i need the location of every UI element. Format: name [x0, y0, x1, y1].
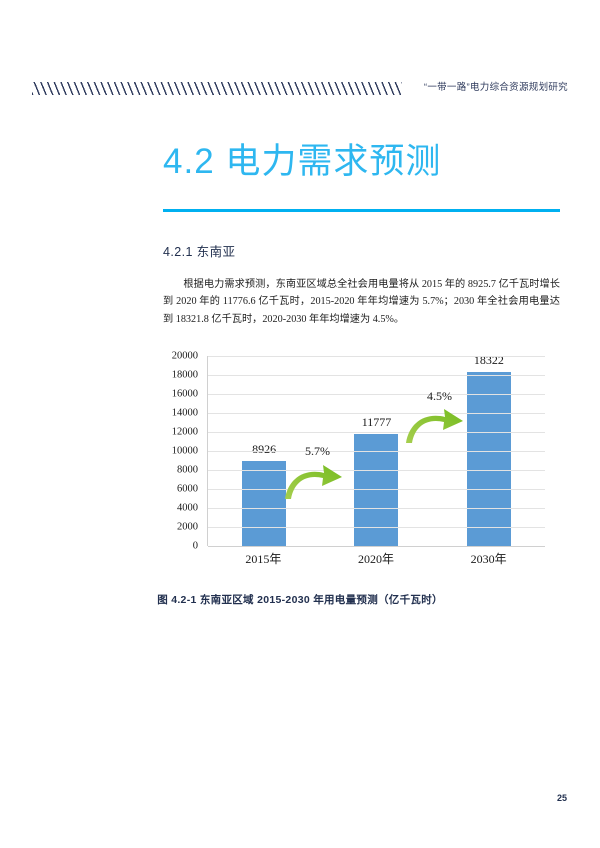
y-axis-tick: 6000	[177, 484, 198, 495]
bar	[242, 461, 286, 546]
hatch-rule-decoration	[32, 82, 402, 95]
gridline	[208, 489, 545, 490]
y-axis-tick: 8000	[177, 465, 198, 476]
gridline	[208, 413, 545, 414]
title-underline-rule	[163, 209, 560, 212]
y-axis-tick: 14000	[172, 408, 198, 419]
gridline	[208, 356, 545, 357]
gridline	[208, 451, 545, 452]
x-axis: 2015年2020年2030年	[207, 550, 545, 567]
running-header: “一带一路”电力综合资源规划研究	[0, 78, 600, 102]
bar-value-label: 8926	[252, 442, 276, 457]
gridline	[208, 375, 545, 376]
growth-arrow-1	[282, 459, 346, 501]
bar	[467, 372, 511, 546]
y-axis-tick: 0	[193, 541, 198, 552]
gridline	[208, 508, 545, 509]
growth-arrow-2	[403, 403, 467, 445]
bar-value-label: 11777	[362, 415, 392, 430]
page-number: 25	[557, 793, 567, 803]
y-axis-tick: 4000	[177, 503, 198, 514]
figure-caption: 图 4.2-1 东南亚区域 2015-2030 年用电量预测（亿千瓦时）	[0, 592, 600, 607]
x-axis-tick: 2030年	[432, 550, 545, 567]
page-title: 4.2 电力需求预测	[163, 133, 441, 184]
growth-annotation-1: 5.7%	[305, 444, 330, 459]
subsection-heading: 4.2.1 东南亚	[163, 241, 235, 260]
running-header-title: “一带一路”电力综合资源规划研究	[424, 78, 568, 98]
bar-chart: 2000018000160001400012000100008000600040…	[155, 356, 545, 571]
gridline	[208, 394, 545, 395]
x-axis-tick: 2015年	[207, 550, 320, 567]
y-axis-tick: 20000	[172, 351, 198, 362]
gridline	[208, 432, 545, 433]
gridline	[208, 470, 545, 471]
y-axis-tick: 16000	[172, 389, 198, 400]
gridline	[208, 527, 545, 528]
body-paragraph: 根据电力需求预测，东南亚区域总全社会用电量将从 2015 年的 8925.7 亿…	[163, 276, 560, 328]
y-axis-tick: 18000	[172, 370, 198, 381]
gridline	[208, 546, 545, 547]
y-axis-tick: 2000	[177, 522, 198, 533]
x-axis-tick: 2020年	[320, 550, 433, 567]
growth-annotation-2: 4.5%	[427, 389, 452, 404]
plot-area: 89261177718322	[207, 356, 545, 546]
y-axis: 2000018000160001400012000100008000600040…	[155, 356, 203, 546]
y-axis-tick: 10000	[172, 446, 198, 457]
document-page: “一带一路”电力综合资源规划研究 4.2 电力需求预测 4.2.1 东南亚 根据…	[0, 0, 600, 848]
y-axis-tick: 12000	[172, 427, 198, 438]
